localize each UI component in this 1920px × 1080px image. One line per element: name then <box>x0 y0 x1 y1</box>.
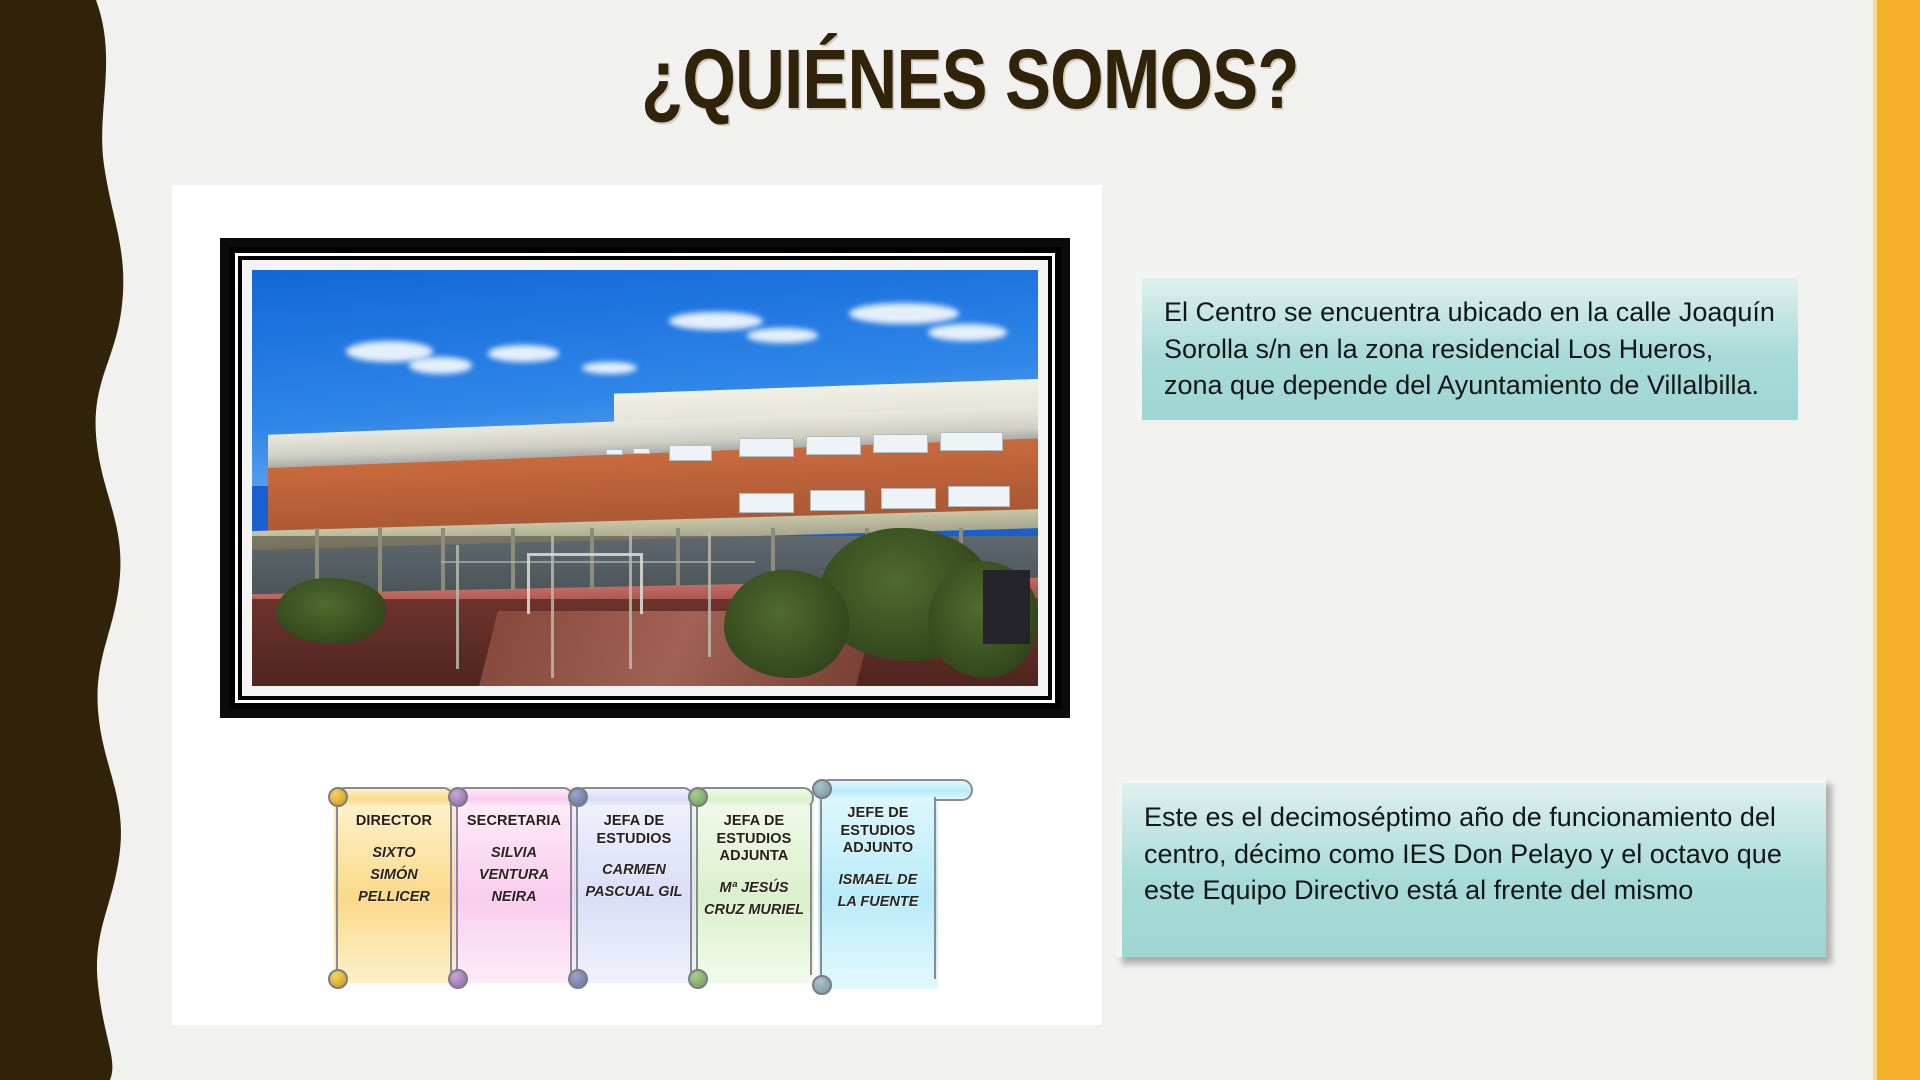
org-card-role-line: DIRECTOR <box>342 813 446 831</box>
org-card-role-line: ESTUDIOS <box>826 823 930 841</box>
org-card-name: Mª JESÚS CRUZ MURIEL <box>702 877 806 921</box>
photo-window <box>810 490 865 511</box>
photo-window <box>606 449 623 455</box>
org-card-body: JEFA DE ESTUDIOS CARMEN PASCUAL GIL <box>576 805 692 975</box>
org-card-name: CARMEN PASCUAL GIL <box>582 859 686 903</box>
org-card-role-line: ESTUDIOS <box>582 831 686 849</box>
photo-cloud <box>409 357 472 374</box>
org-card-name-line: Mª JESÚS <box>702 877 806 899</box>
photo-window <box>633 448 650 454</box>
page-title-text: ¿QUIÉNES SOMOS? <box>641 40 1298 120</box>
org-card-name-line: PELLICER <box>342 886 446 908</box>
scroll-knob-icon <box>812 975 832 995</box>
org-card-role: JEFA DE ESTUDIOS <box>582 813 686 848</box>
org-card-name-line: SIMÓN <box>342 864 446 886</box>
scroll-knob-icon <box>328 787 348 807</box>
org-card-name-line: CARMEN <box>582 859 686 881</box>
org-card-role-line: ESTUDIOS <box>702 831 806 849</box>
scroll-knob-icon <box>688 787 708 807</box>
org-card-name-line: CRUZ MURIEL <box>702 899 806 921</box>
photo-window <box>948 486 1011 507</box>
org-card-body: DIRECTOR SIXTO SIMÓN PELLICER <box>336 805 452 975</box>
org-card-body: JEFE DE ESTUDIOS ADJUNTO ISMAEL DE LA FU… <box>820 797 936 979</box>
scroll-knob-icon <box>812 779 832 799</box>
org-card-role-line: JEFA DE <box>702 813 806 831</box>
scroll-knob-icon <box>448 787 468 807</box>
org-card-name-line: SIXTO <box>342 842 446 864</box>
org-card-jefa-estudios[interactable]: JEFA DE ESTUDIOS CARMEN PASCUAL GIL <box>574 787 694 983</box>
org-card-name: SILVIA VENTURA NEIRA <box>462 842 566 908</box>
photo-cloud <box>747 328 818 343</box>
school-photo-inner-mat <box>242 260 1048 696</box>
callout-history: Este es el decimoséptimo año de funciona… <box>1116 777 1826 957</box>
management-team-org-chart: DIRECTOR SIXTO SIMÓN PELLICER SECRETARIA <box>186 775 1086 1000</box>
school-photo-frame <box>220 238 1070 718</box>
photo-cloud <box>928 324 1007 341</box>
school-building-photo <box>252 270 1038 686</box>
org-card-secretaria[interactable]: SECRETARIA SILVIA VENTURA NEIRA <box>454 787 574 983</box>
org-card-role: JEFE DE ESTUDIOS ADJUNTO <box>826 805 930 858</box>
org-card-role-line: ADJUNTA <box>702 848 806 866</box>
content-panel: DIRECTOR SIXTO SIMÓN PELLICER SECRETARIA <box>172 185 1102 1025</box>
org-card-body: SECRETARIA SILVIA VENTURA NEIRA <box>456 805 572 975</box>
org-card-role: JEFA DE ESTUDIOS ADJUNTA <box>702 813 806 866</box>
org-card-jefa-estudios-adjunta[interactable]: JEFA DE ESTUDIOS ADJUNTA Mª JESÚS CRUZ M… <box>694 787 814 983</box>
photo-waste-bin <box>983 570 1030 645</box>
photo-canopy-post <box>378 528 382 595</box>
org-card-role: SECRETARIA <box>462 813 566 831</box>
org-card-name: SIXTO SIMÓN PELLICER <box>342 842 446 908</box>
photo-cloud <box>849 303 959 324</box>
callout-location: El Centro se encuentra ubicado en la cal… <box>1136 272 1798 420</box>
scroll-knob-icon <box>568 787 588 807</box>
page-title: ¿QUIÉNES SOMOS? <box>130 40 1810 120</box>
scroll-knob-icon <box>568 969 588 989</box>
photo-cloud <box>669 312 763 331</box>
scroll-knob-icon <box>688 969 708 989</box>
photo-shrub <box>276 578 386 645</box>
photo-shrub <box>724 570 850 678</box>
photo-cloud <box>488 345 559 362</box>
org-card-role-line: JEFE DE <box>826 805 930 823</box>
school-photo-mat <box>235 253 1055 703</box>
org-card-role: DIRECTOR <box>342 813 446 831</box>
photo-goal-post <box>527 553 643 614</box>
org-card-body: JEFA DE ESTUDIOS ADJUNTA Mª JESÚS CRUZ M… <box>696 805 812 975</box>
photo-fence-post <box>456 545 459 670</box>
photo-window <box>669 445 712 462</box>
photo-window <box>881 488 936 509</box>
org-card-name: ISMAEL DE LA FUENTE <box>826 869 930 913</box>
scroll-knob-icon <box>328 969 348 989</box>
org-card-director[interactable]: DIRECTOR SIXTO SIMÓN PELLICER <box>334 787 454 983</box>
org-card-name-line: LA FUENTE <box>826 891 930 913</box>
slide: ¿QUIÉNES SOMOS? <box>0 0 1920 1080</box>
org-card-name-line: SILVIA <box>462 842 566 864</box>
org-card-jefe-estudios-adjunto[interactable]: JEFE DE ESTUDIOS ADJUNTO ISMAEL DE LA FU… <box>818 779 938 989</box>
org-card-name-line: NEIRA <box>462 886 566 908</box>
org-card-name-line: ISMAEL DE <box>826 869 930 891</box>
photo-window <box>739 438 794 457</box>
photo-window <box>940 432 1003 451</box>
org-card-name-line: PASCUAL GIL <box>582 881 686 903</box>
org-card-role-line: SECRETARIA <box>462 813 566 831</box>
org-card-role-line: JEFA DE <box>582 813 686 831</box>
scroll-knob-icon <box>448 969 468 989</box>
right-accent-bar <box>1873 0 1920 1080</box>
org-card-role-line: ADJUNTO <box>826 840 930 858</box>
photo-cloud <box>582 362 637 374</box>
org-card-name-line: VENTURA <box>462 864 566 886</box>
right-accent-bar-highlight <box>1873 0 1877 1080</box>
photo-fence-post <box>708 532 711 657</box>
photo-window <box>806 436 861 455</box>
left-scalloped-edge-decoration <box>0 0 130 1080</box>
photo-window <box>739 493 794 514</box>
photo-window <box>873 434 928 453</box>
